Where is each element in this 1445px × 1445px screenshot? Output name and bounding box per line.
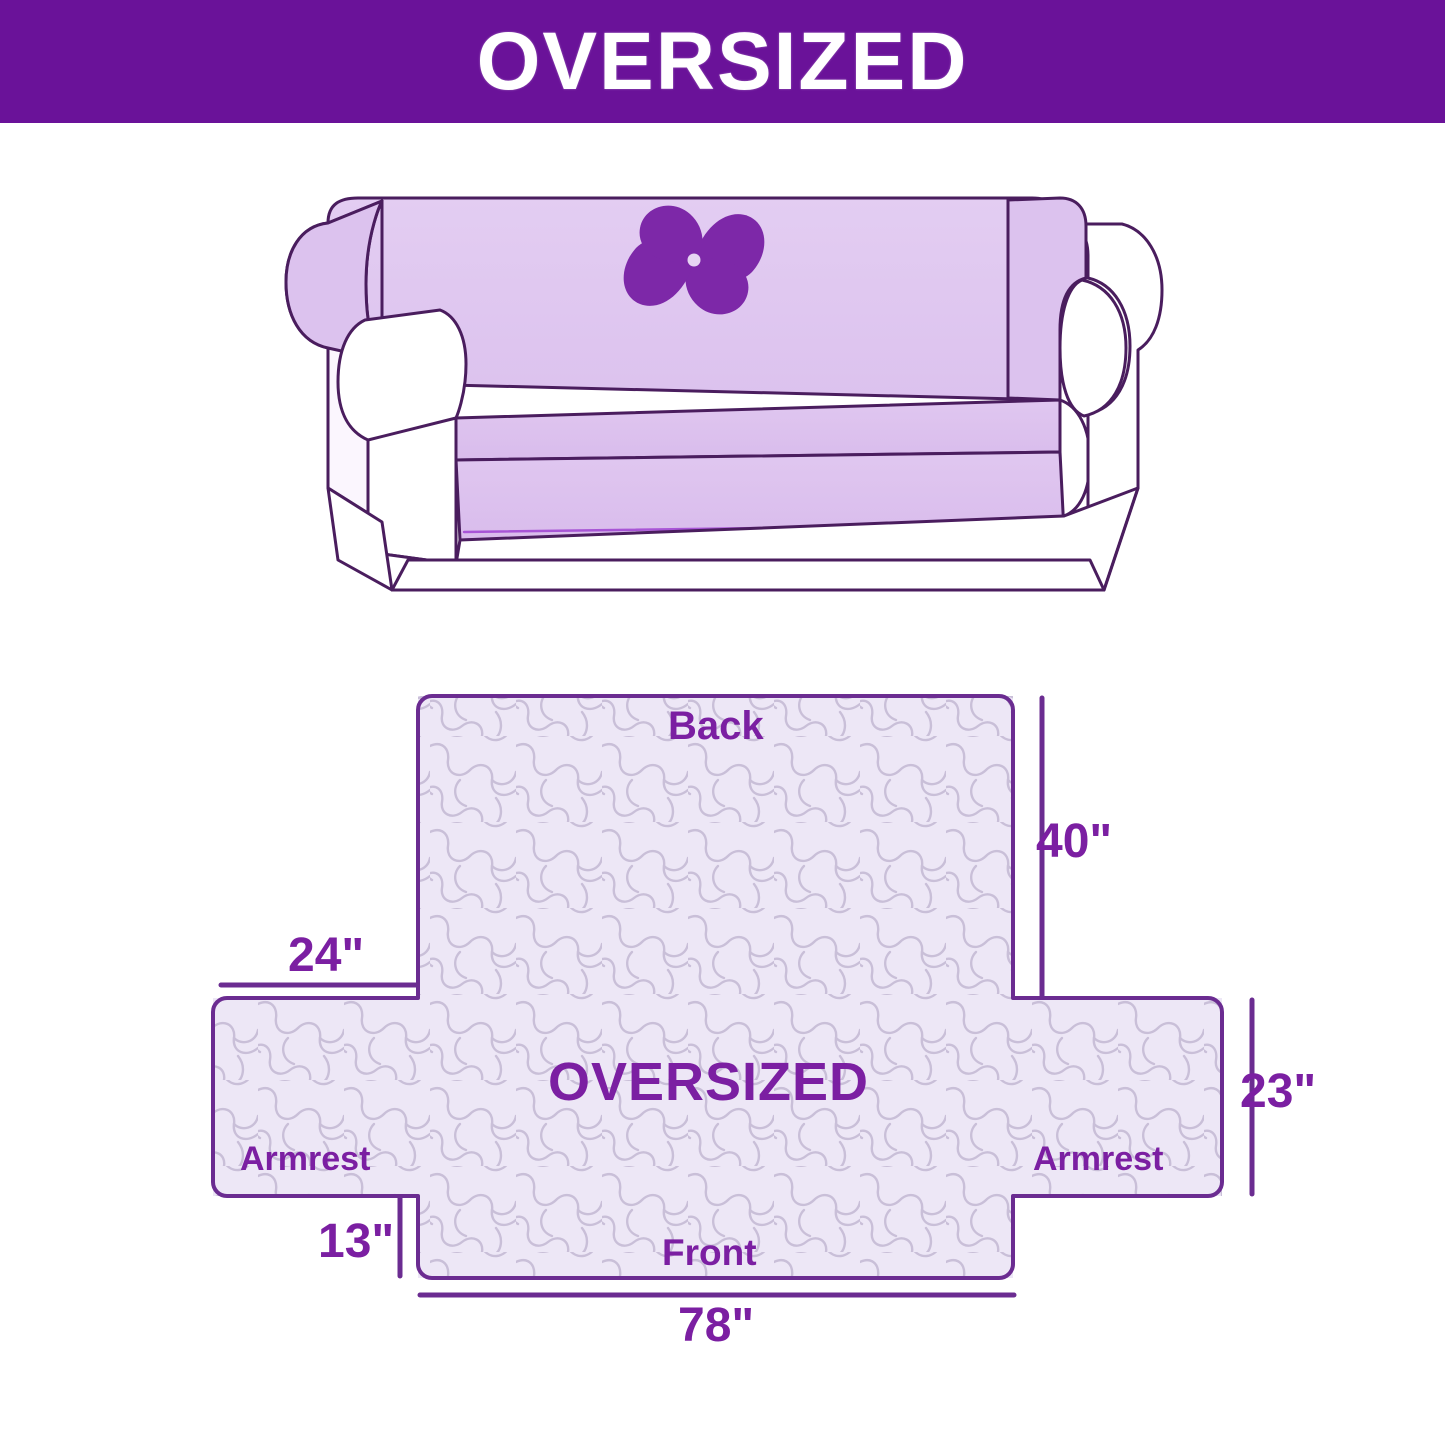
sofa-cover-size-diagram: OVERSIZED — [0, 0, 1445, 1445]
header-banner: OVERSIZED — [0, 0, 1445, 123]
pinwheel-flower-logo — [624, 206, 765, 315]
flat-pattern-diagram: Back OVERSIZED Armrest Armrest Front 40"… — [0, 650, 1445, 1350]
pattern-label-front: Front — [662, 1234, 757, 1271]
dimension-label-armrest-height: 23" — [1240, 1068, 1316, 1116]
pattern-label-armrest-right: Armrest — [1033, 1142, 1163, 1176]
dimension-label-back-height: 40" — [1036, 818, 1112, 866]
dimension-label-armrest-width: 24" — [288, 932, 364, 980]
sofa-seat-back-band — [456, 400, 1060, 460]
pattern-label-center: OVERSIZED — [548, 1055, 869, 1109]
sofa-front-skirt — [392, 560, 1104, 590]
dimension-label-front-drop: 13" — [318, 1218, 394, 1266]
logo-center-dot — [688, 254, 701, 267]
pattern-label-back: Back — [668, 706, 764, 746]
dimension-label-front-width: 78" — [678, 1302, 754, 1350]
pattern-fabric-fill — [200, 680, 1240, 1300]
pattern-label-armrest-left: Armrest — [240, 1142, 370, 1176]
sofa-illustration — [270, 160, 1200, 630]
sofa-line-drawing — [270, 160, 1200, 630]
page-title: OVERSIZED — [477, 21, 969, 103]
